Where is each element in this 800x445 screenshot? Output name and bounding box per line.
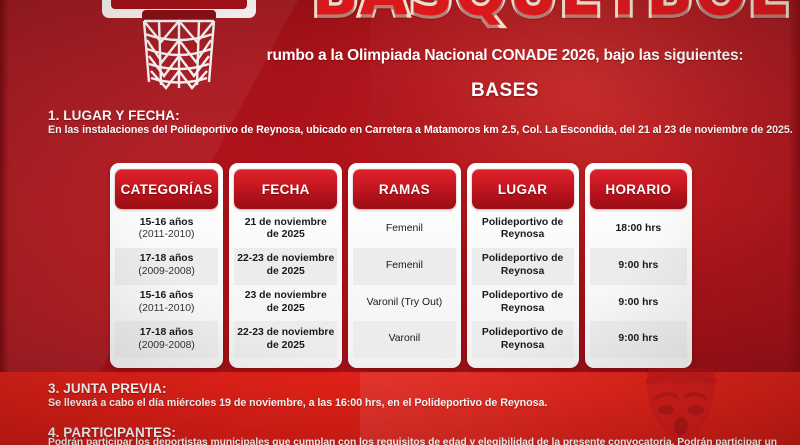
- basketball-player-silhouette-icon: [616, 368, 746, 445]
- cell-fecha-line2: de 2025: [267, 229, 305, 242]
- page-title: BASQUETBOL: [300, 0, 800, 20]
- table-row: 17-18 años (2009-2008): [115, 248, 218, 285]
- edge-shadow-left: [0, 0, 9, 372]
- table-column-lugar: LUGAR Polideportivo de Reynosa Polidepor…: [467, 163, 579, 368]
- cell-fecha-line2: de 2025: [267, 266, 305, 279]
- cell-lugar-line2: Reynosa: [501, 266, 544, 279]
- table-row: 15-16 años (2011-2010): [115, 211, 218, 248]
- cell-categoria-anios: (2011-2010): [139, 229, 195, 242]
- table-row: 9:00 hrs: [590, 285, 687, 322]
- table-row: Polideportivo de Reynosa: [472, 321, 574, 358]
- table-row: 9:00 hrs: [590, 248, 687, 285]
- cell-categoria-edad: 15-16 años: [140, 290, 194, 303]
- cell-rama: Femenil: [386, 223, 423, 236]
- cell-rama: Femenil: [386, 260, 423, 273]
- cell-rama: Varonil (Try Out): [367, 297, 443, 310]
- table-column-categorias: CATEGORÍAS 15-16 años (2011-2010) 17-18 …: [110, 163, 223, 368]
- table-column-ramas: RAMAS Femenil Femenil Varonil (Try Out) …: [348, 163, 460, 368]
- cell-horario: 9:00 hrs: [618, 333, 658, 346]
- cell-fecha-line1: 23 de noviembre: [245, 290, 327, 303]
- column-header-horario: HORARIO: [590, 169, 687, 209]
- cell-lugar-line2: Reynosa: [501, 229, 544, 242]
- table-row: Varonil (Try Out): [353, 285, 455, 322]
- column-cells-ramas: Femenil Femenil Varonil (Try Out) Varoni…: [353, 211, 455, 358]
- column-cells-categorias: 15-16 años (2011-2010) 17-18 años (2009-…: [115, 211, 218, 358]
- edge-shadow-right: [788, 0, 800, 372]
- column-cells-horario: 18:00 hrs 9:00 hrs 9:00 hrs 9:00 hrs: [590, 211, 687, 358]
- cell-categoria-edad: 17-18 años: [140, 327, 194, 340]
- schedule-table: CATEGORÍAS 15-16 años (2011-2010) 17-18 …: [110, 163, 692, 368]
- cell-rama: Varonil: [389, 333, 421, 346]
- bases-label: BASES: [225, 80, 785, 102]
- section-1-body: En las instalaciones del Polideportivo d…: [48, 124, 793, 136]
- column-header-ramas: RAMAS: [353, 169, 455, 209]
- column-cells-fecha: 21 de noviembre de 2025 22-23 de noviemb…: [234, 211, 337, 358]
- cell-categoria-edad: 15-16 años: [140, 217, 194, 230]
- cell-lugar-line1: Polideportivo de: [482, 217, 563, 230]
- table-row: Polideportivo de Reynosa: [472, 248, 574, 285]
- section-1-heading: 1. LUGAR Y FECHA:: [48, 108, 180, 123]
- cell-fecha-line1: 22-23 de noviembre: [237, 327, 334, 340]
- section-3-heading: 3. JUNTA PREVIA:: [48, 381, 167, 396]
- section-3-body: Se llevará a cabo el día miércoles 19 de…: [48, 397, 547, 409]
- table-row: 22-23 de noviembre de 2025: [234, 321, 337, 358]
- table-row: Femenil: [353, 211, 455, 248]
- table-row: Polideportivo de Reynosa: [472, 211, 574, 248]
- cell-categoria-anios: (2009-2008): [138, 340, 195, 353]
- cell-lugar-line1: Polideportivo de: [482, 253, 563, 266]
- cell-categoria-anios: (2011-2010): [139, 303, 195, 316]
- table-row: 21 de noviembre de 2025: [234, 211, 337, 248]
- cell-categoria-edad: 17-18 años: [140, 253, 194, 266]
- column-header-categorias: CATEGORÍAS: [115, 169, 218, 209]
- table-row: 22-23 de noviembre de 2025: [234, 248, 337, 285]
- cell-lugar-line2: Reynosa: [501, 303, 544, 316]
- title-text: BASQUETBOL: [311, 0, 788, 31]
- cell-fecha-line1: 22-23 de noviembre: [237, 253, 334, 266]
- table-row: Polideportivo de Reynosa: [472, 285, 574, 322]
- table-row: 15-16 años (2011-2010): [115, 285, 218, 322]
- cell-fecha-line1: 21 de noviembre: [245, 217, 327, 230]
- cell-horario: 9:00 hrs: [618, 297, 658, 310]
- column-cells-lugar: Polideportivo de Reynosa Polideportivo d…: [472, 211, 574, 358]
- table-column-horario: HORARIO 18:00 hrs 9:00 hrs 9:00 hrs 9:00…: [585, 163, 692, 368]
- cell-fecha-line2: de 2025: [267, 340, 305, 353]
- table-column-fecha: FECHA 21 de noviembre de 2025 22-23 de n…: [229, 163, 342, 368]
- cell-horario: 18:00 hrs: [616, 223, 662, 236]
- cell-fecha-line2: de 2025: [267, 303, 305, 316]
- cell-lugar-line2: Reynosa: [501, 340, 544, 353]
- cell-lugar-line1: Polideportivo de: [482, 290, 563, 303]
- cell-lugar-line1: Polideportivo de: [482, 327, 563, 340]
- table-row: Femenil: [353, 248, 455, 285]
- column-header-fecha: FECHA: [234, 169, 337, 209]
- column-header-lugar: LUGAR: [472, 169, 574, 209]
- table-row: Varonil: [353, 321, 455, 358]
- table-row: 18:00 hrs: [590, 211, 687, 248]
- subtitle-text: rumbo a la Olimpiada Nacional CONADE 202…: [225, 47, 785, 65]
- table-row: 9:00 hrs: [590, 321, 687, 358]
- table-row: 17-18 años (2009-2008): [115, 321, 218, 358]
- table-row: 23 de noviembre de 2025: [234, 285, 337, 322]
- section-4-body: Podrán participar los deportistas munici…: [48, 437, 800, 445]
- cell-horario: 9:00 hrs: [618, 260, 658, 273]
- cell-categoria-anios: (2009-2008): [138, 266, 195, 279]
